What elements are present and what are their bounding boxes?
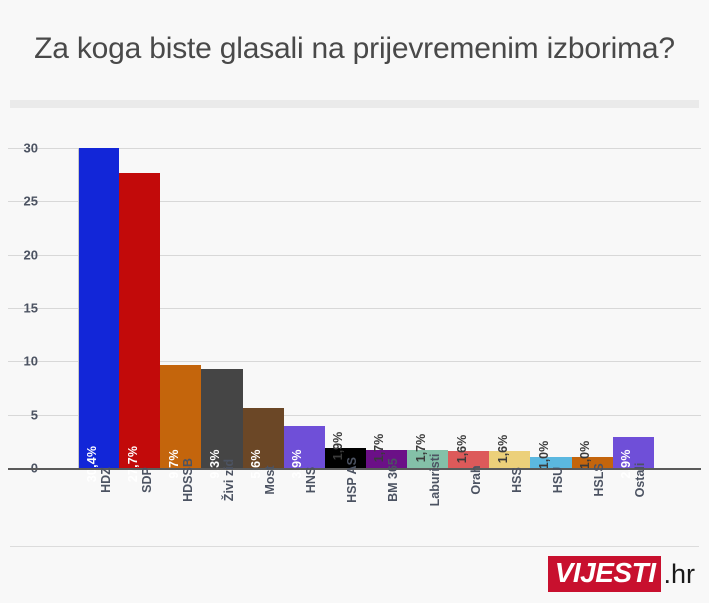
bar[interactable]: 3,9% (284, 426, 325, 468)
bar[interactable]: 30,4% (78, 148, 119, 468)
bar-value-label: 2,9% (619, 449, 633, 478)
bar-value-outside: 1,6% (501, 405, 519, 451)
x-axis-tick-label: HSP AS (345, 457, 359, 503)
bar-slot[interactable]: 3,9% (284, 148, 325, 468)
x-axis-tick-label: Most (263, 465, 277, 494)
vijesti-logo[interactable]: VIJESTI .hr (548, 557, 695, 591)
bar-slot[interactable]: 9,7% (160, 148, 201, 468)
chart-title-area: Za koga biste glasali na prijevremenim i… (0, 0, 709, 98)
x-axis-tick-label: Orah (469, 465, 483, 494)
x-axis-tick: Živi zid (201, 476, 242, 536)
bar-value-label: 1,9% (331, 431, 345, 460)
x-axis-tick: HSS (489, 476, 530, 536)
x-axis-tick-label: HSU (551, 467, 565, 493)
x-axis-tick: HSLS (572, 476, 613, 536)
footer-divider (10, 546, 699, 547)
x-axis-tick: Laburisti (407, 476, 448, 536)
title-separator (10, 100, 699, 108)
x-axis-labels: HDZSDPHDSSBŽivi zidMostHNSHSP ASBM 365La… (78, 476, 654, 536)
y-axis-line (78, 148, 79, 468)
x-axis-tick-label: Laburisti (428, 454, 442, 507)
bar-value-label: 5,6% (249, 449, 263, 478)
bar-value-label: 3,9% (290, 449, 304, 478)
bar-slot[interactable]: 1,0% (530, 148, 571, 468)
x-axis-tick-label: HDSSB (181, 458, 195, 502)
bar-slot[interactable]: 1,6% (489, 148, 530, 468)
x-axis-tick-label: BM 365 (386, 458, 400, 502)
x-axis-tick: Ostali (613, 476, 654, 536)
bar-value-label: 1,0% (578, 441, 592, 470)
bar-slot[interactable]: 1,9% (325, 148, 366, 468)
x-axis-tick-label: Živi zid (222, 459, 236, 501)
logo-tld: .hr (663, 559, 695, 590)
x-axis-tick: Most (243, 476, 284, 536)
x-axis-tick-label: HSS (510, 467, 524, 493)
x-axis-tick-label: HDZ (99, 467, 113, 493)
bar-value-label: 1,0% (537, 441, 551, 470)
bar-value-label: 1,7% (372, 434, 386, 463)
bar-value-label: 1,7% (414, 434, 428, 463)
x-axis-tick: HSU (530, 476, 571, 536)
x-axis-tick-label: HSLS (592, 463, 606, 496)
bar-slot[interactable]: 30,4% (78, 148, 119, 468)
bar[interactable]: 9,7% (160, 365, 201, 468)
bar[interactable]: 1,6% (489, 451, 530, 468)
bar[interactable]: 27,7% (119, 173, 160, 468)
x-axis-tick: Orah (448, 476, 489, 536)
x-axis-tick: HSP AS (325, 476, 366, 536)
bar-value-outside: 1,9% (336, 402, 354, 448)
bar-value-outside: 1,0% (542, 411, 560, 457)
x-axis-tick: HDSSB (160, 476, 201, 536)
bar-value-outside: 1,6% (460, 405, 478, 451)
bar-value-label: 1,6% (455, 435, 469, 464)
y-axis-tick: 30 (24, 141, 38, 156)
bar-slot[interactable]: 27,7% (119, 148, 160, 468)
bar-value-label: 1,6% (496, 435, 510, 464)
bar-slot[interactable]: 5,6% (243, 148, 284, 468)
bar[interactable]: 9,3% (201, 369, 242, 468)
bar-value-outside: 1,7% (419, 404, 437, 450)
bar-series: 30,4%27,7%9,7%9,3%5,6%3,9%1,9%1,7%1,7%1,… (78, 148, 654, 468)
bar-value-label: 9,7% (167, 449, 181, 478)
logo-wordmark: VIJESTI (548, 556, 662, 592)
y-axis-tick: 25 (24, 194, 38, 209)
bar-slot[interactable]: 1,6% (448, 148, 489, 468)
x-axis-tick: HDZ (78, 476, 119, 536)
y-axis-tick: 5 (31, 407, 38, 422)
bar-slot[interactable]: 1,7% (407, 148, 448, 468)
x-axis-tick-label: Ostali (633, 463, 647, 498)
bar[interactable]: 5,6% (243, 408, 284, 468)
x-axis-tick: BM 365 (366, 476, 407, 536)
bar-value-outside: 1,7% (377, 404, 395, 450)
bar-slot[interactable]: 1,0% (572, 148, 613, 468)
bar-slot[interactable]: 9,3% (201, 148, 242, 468)
x-axis-tick: HNS (284, 476, 325, 536)
bar-slot[interactable]: 1,7% (366, 148, 407, 468)
chart-page: Za koga biste glasali na prijevremenim i… (0, 0, 709, 603)
bar-slot[interactable]: 2,9% (613, 148, 654, 468)
x-axis-tick-label: SDP (140, 467, 154, 493)
y-axis-tick: 15 (24, 301, 38, 316)
y-axis-tick: 20 (24, 247, 38, 262)
y-axis-tick: 10 (24, 354, 38, 369)
bar-value-label: 9,3% (208, 449, 222, 478)
x-axis-tick: SDP (119, 476, 160, 536)
y-axis-labels: 302520151050 (0, 108, 72, 528)
x-axis-tick-label: HNS (304, 467, 318, 493)
page-title: Za koga biste glasali na prijevremenim i… (34, 31, 675, 66)
bar-value-outside: 1,0% (583, 411, 601, 457)
